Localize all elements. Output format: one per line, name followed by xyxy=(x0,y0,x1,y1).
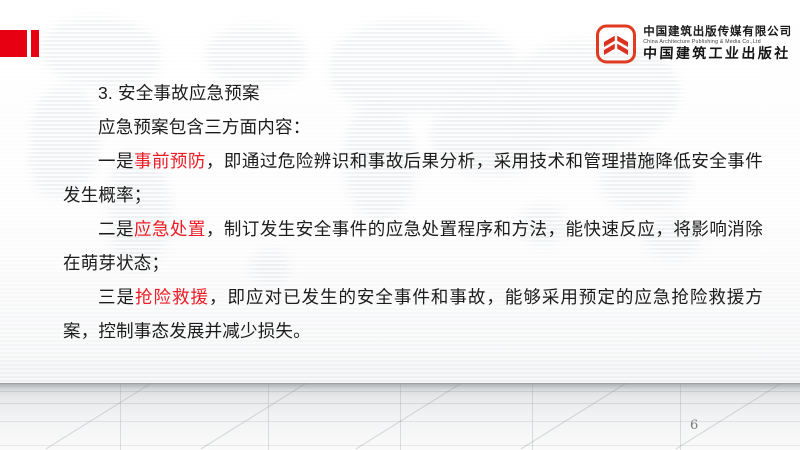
logo-imprint-cn: 中国建筑工业出版社 xyxy=(643,47,793,61)
item-3-highlight: 抢险救援 xyxy=(135,287,209,307)
content-item-2: 二是应急处置，制订发生安全事件的应急处置程序和方法，能快速反应，将影响消除在萌芽… xyxy=(63,212,763,280)
slide-body: 3. 安全事故应急预案 应急预案包含三方面内容： 一是事前预防，即通过危险辨识和… xyxy=(63,76,763,348)
open-book-emblem-icon xyxy=(596,24,636,64)
logo-text-group: 中国建筑出版传媒有限公司 China Architecture Publishi… xyxy=(643,27,792,62)
section-heading: 3. 安全事故应急预案 xyxy=(63,76,763,110)
logo-company-cn: 中国建筑出版传媒有限公司 xyxy=(643,27,792,39)
accent-marker-bar xyxy=(31,30,39,57)
item-3-prefix: 三是 xyxy=(98,287,135,307)
floor-horizon-shadow xyxy=(0,383,800,390)
accent-marker-block xyxy=(0,30,27,57)
page-number: 6 xyxy=(690,418,698,433)
logo-company-en: China Architecture Publishing & Media Co… xyxy=(643,40,792,45)
item-2-highlight: 应急处置 xyxy=(134,219,206,239)
perspective-floor xyxy=(0,383,800,450)
publisher-logo: 中国建筑出版传媒有限公司 China Architecture Publishi… xyxy=(596,24,792,64)
item-1-highlight: 事前预防 xyxy=(134,151,206,171)
slide-canvas: 中国建筑出版传媒有限公司 China Architecture Publishi… xyxy=(0,0,800,450)
content-item-3: 三是抢险救援，即应对已发生的安全事件和事故，能够采用预定的应急抢险救援方案，控制… xyxy=(63,280,763,348)
content-item-1: 一是事前预防，即通过危险辨识和事故后果分析，采用技术和管理措施降低安全事件发生概… xyxy=(63,144,763,212)
item-2-prefix: 二是 xyxy=(98,219,134,239)
item-1-prefix: 一是 xyxy=(98,151,134,171)
lead-line: 应急预案包含三方面内容： xyxy=(63,110,763,144)
